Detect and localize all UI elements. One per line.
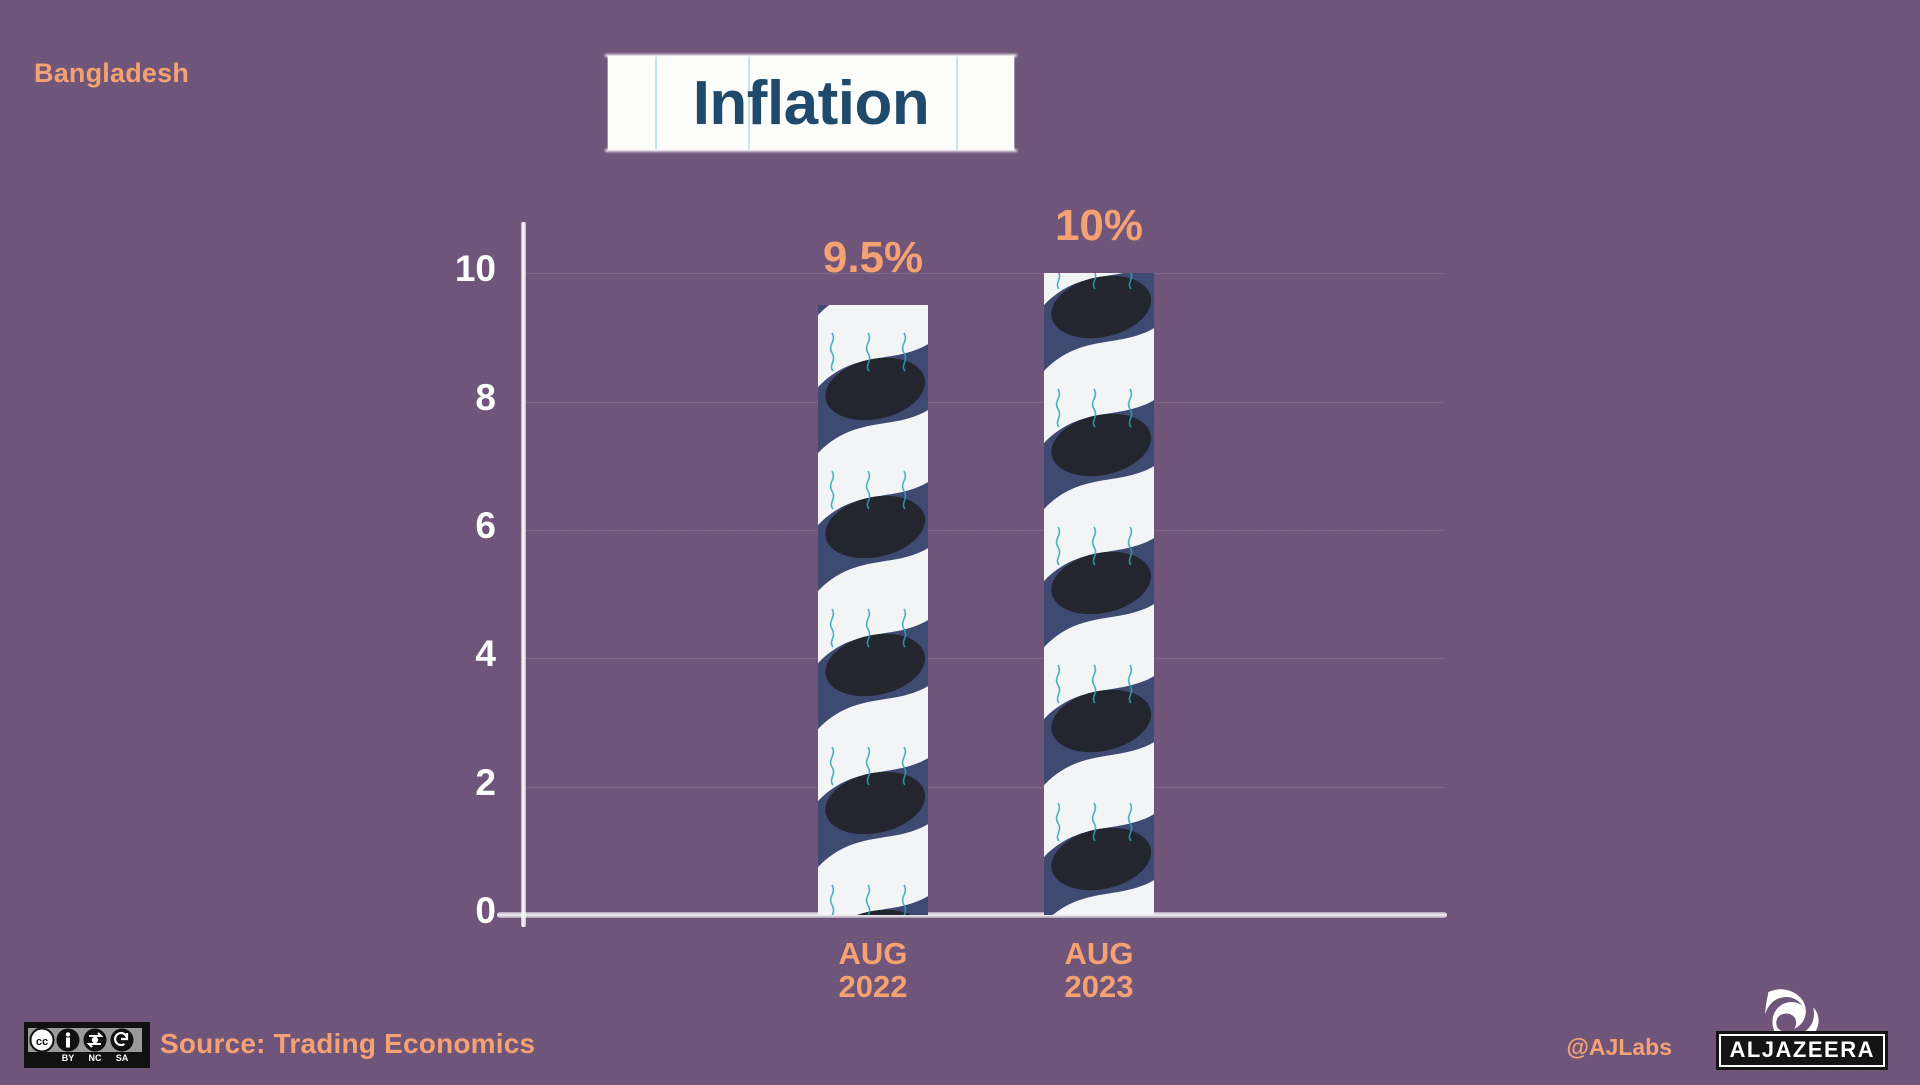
y-axis-line	[521, 222, 526, 927]
bar	[1044, 273, 1154, 915]
gridline	[524, 658, 1444, 659]
x-axis-line	[497, 912, 1447, 918]
bar	[818, 305, 928, 915]
al-jazeera-wordmark: ALJAZEERA	[1716, 1031, 1888, 1070]
svg-text:NC: NC	[89, 1053, 102, 1063]
y-axis-tick-label: 8	[426, 377, 496, 419]
bar-texture	[818, 305, 928, 915]
x-axis-category-label: AUG2023	[999, 937, 1199, 1004]
gridline	[524, 787, 1444, 788]
category-label-line: AUG	[999, 937, 1199, 970]
category-label-line: AUG	[773, 937, 973, 970]
svg-text:cc: cc	[36, 1036, 48, 1048]
cc-license-icon: cc BY NC SA	[26, 1026, 144, 1064]
svg-text:SA: SA	[116, 1053, 129, 1063]
gridline	[524, 530, 1444, 531]
y-axis-tick-label: 2	[426, 762, 496, 804]
y-axis-tick-label: 10	[426, 248, 496, 290]
bar-texture	[1044, 273, 1154, 915]
svg-text:BY: BY	[62, 1053, 75, 1063]
ajlabs-handle: @AJLabs	[1566, 1034, 1672, 1061]
y-axis-tick-label: 4	[426, 633, 496, 675]
bar-value-label: 10%	[999, 201, 1199, 251]
y-axis-tick-label: 0	[426, 890, 496, 932]
bar-value-label: 9.5%	[773, 233, 973, 283]
category-label-line: 2022	[773, 970, 973, 1003]
category-label-line: 2023	[999, 970, 1199, 1003]
title-card: Inflation	[608, 56, 1014, 150]
source-credit: Source: Trading Economics	[160, 1028, 535, 1060]
gridline	[524, 402, 1444, 403]
page-title: Inflation	[608, 56, 1014, 150]
creative-commons-badge: cc BY NC SA	[24, 1022, 150, 1068]
y-axis-tick-label: 6	[426, 505, 496, 547]
bar-chart: 1086420 9.5%AUG202210%AUG2023	[0, 0, 1920, 1085]
gridline	[524, 273, 1444, 274]
infographic-canvas: Bangladesh Inflation 1086420 9.5%AUG2022…	[0, 0, 1920, 1085]
x-axis-category-label: AUG2022	[773, 937, 973, 1004]
